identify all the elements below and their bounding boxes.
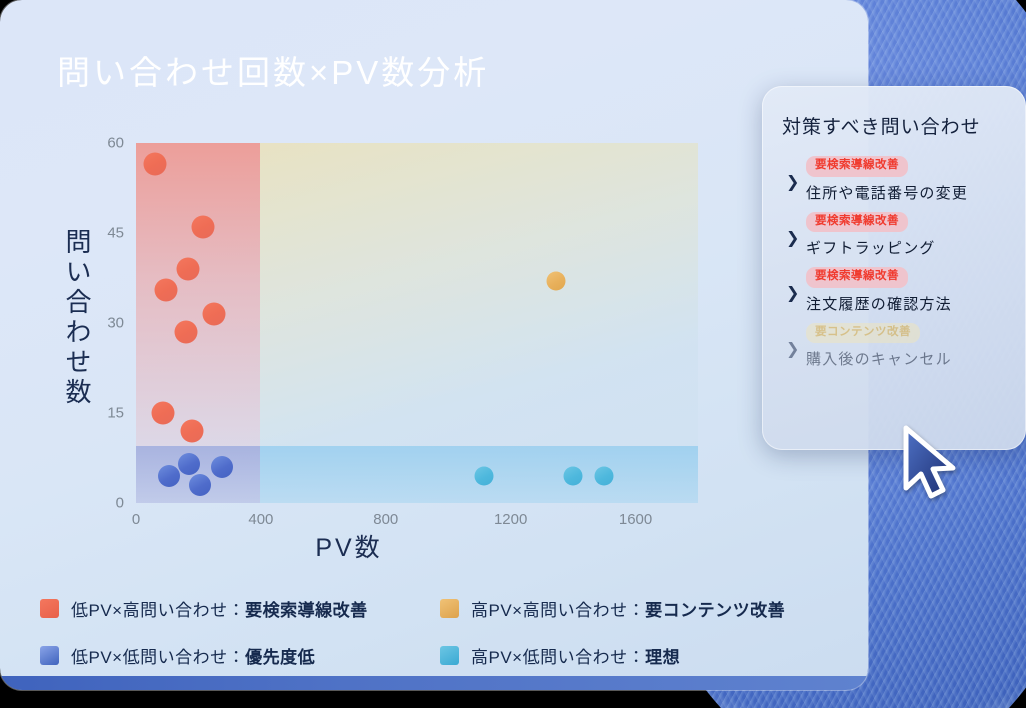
data-point[interactable] bbox=[203, 303, 226, 326]
panel-item-label: 住所や電話番号の変更 bbox=[806, 182, 1008, 203]
legend-swatch bbox=[440, 599, 459, 618]
scatter-chart: 015304560 040080012001600 問い合わせ数 PV数 bbox=[0, 0, 868, 690]
x-axis-tick-label: 1200 bbox=[494, 511, 527, 528]
status-badge: 要コンテンツ改善 bbox=[806, 323, 920, 344]
data-point[interactable] bbox=[192, 216, 215, 239]
data-point[interactable] bbox=[154, 279, 177, 302]
legend-item[interactable]: 低PV×低問い合わせ：優先度低 bbox=[40, 643, 440, 668]
legend-swatch bbox=[40, 599, 59, 618]
chevron-right-icon: ❯ bbox=[786, 231, 799, 247]
legend-label: 高PV×高問い合わせ：要コンテンツ改善 bbox=[471, 596, 785, 621]
legend-item[interactable]: 高PV×高問い合わせ：要コンテンツ改善 bbox=[440, 596, 840, 621]
data-point[interactable] bbox=[178, 453, 200, 475]
panel-list-item[interactable]: ❯要検索導線改善ギフトラッピング bbox=[782, 209, 1008, 261]
status-badge: 要検索導線改善 bbox=[806, 267, 908, 288]
x-axis-tick-label: 0 bbox=[132, 511, 140, 528]
data-point[interactable] bbox=[176, 258, 199, 281]
data-point[interactable] bbox=[143, 153, 166, 176]
y-axis-tick-label: 0 bbox=[116, 495, 124, 512]
data-point[interactable] bbox=[546, 272, 565, 291]
y-axis-tick-label: 60 bbox=[107, 135, 124, 152]
data-point[interactable] bbox=[595, 467, 614, 486]
panel-list-item[interactable]: ❯要検索導線改善注文履歴の確認方法 bbox=[782, 264, 1008, 316]
chevron-right-icon: ❯ bbox=[786, 175, 799, 191]
x-axis-tick-label: 400 bbox=[248, 511, 273, 528]
panel-item-label: 購入後のキャンセル bbox=[806, 348, 1008, 369]
card-bottom-edge bbox=[0, 676, 868, 690]
panel-item-list: ❯要検索導線改善住所や電話番号の変更❯要検索導線改善ギフトラッピング❯要検索導線… bbox=[782, 153, 1008, 371]
x-axis-title: PV数 bbox=[0, 528, 868, 564]
panel-item-label: 注文履歴の確認方法 bbox=[806, 293, 1008, 314]
y-axis-tick-label: 45 bbox=[107, 225, 124, 242]
legend-label: 高PV×低問い合わせ：理想 bbox=[471, 643, 680, 668]
panel-list-item[interactable]: ❯要コンテンツ改善購入後のキャンセル bbox=[782, 320, 1008, 372]
plot-area bbox=[136, 143, 698, 503]
legend-item[interactable]: 高PV×低問い合わせ：理想 bbox=[440, 643, 840, 668]
legend-label: 低PV×低問い合わせ：優先度低 bbox=[71, 643, 315, 668]
legend-swatch bbox=[40, 646, 59, 665]
status-badge: 要検索導線改善 bbox=[806, 212, 908, 233]
chevron-right-icon: ❯ bbox=[786, 342, 799, 358]
legend-swatch bbox=[440, 646, 459, 665]
y-axis-tick-label: 15 bbox=[107, 405, 124, 422]
screenshot-root: 問い合わせ回数×PV数分析 015304560 040080012001600 … bbox=[0, 0, 1026, 708]
data-point[interactable] bbox=[189, 474, 211, 496]
panel-title: 対策すべき問い合わせ bbox=[782, 112, 1008, 139]
data-point[interactable] bbox=[181, 420, 204, 443]
chart-legend: 低PV×高問い合わせ：要検索導線改善高PV×高問い合わせ：要コンテンツ改善低PV… bbox=[40, 596, 840, 668]
x-axis-tick-label: 1600 bbox=[619, 511, 652, 528]
data-point[interactable] bbox=[174, 321, 197, 344]
data-point[interactable] bbox=[211, 456, 233, 478]
data-point[interactable] bbox=[564, 467, 583, 486]
analysis-card: 問い合わせ回数×PV数分析 015304560 040080012001600 … bbox=[0, 0, 868, 690]
data-point[interactable] bbox=[151, 402, 174, 425]
priority-inquiries-panel: 対策すべき問い合わせ ❯要検索導線改善住所や電話番号の変更❯要検索導線改善ギフト… bbox=[762, 86, 1026, 450]
x-axis-tick-label: 800 bbox=[373, 511, 398, 528]
y-axis-title: 問い合わせ数 bbox=[52, 228, 92, 408]
status-badge: 要検索導線改善 bbox=[806, 156, 908, 177]
mouse-cursor-icon bbox=[900, 424, 962, 502]
data-point[interactable] bbox=[158, 465, 180, 487]
chevron-right-icon: ❯ bbox=[786, 286, 799, 302]
panel-item-label: ギフトラッピング bbox=[806, 237, 1008, 258]
quadrant-high-pv-high-inquiry bbox=[260, 143, 698, 446]
panel-list-item[interactable]: ❯要検索導線改善住所や電話番号の変更 bbox=[782, 153, 1008, 205]
legend-label: 低PV×高問い合わせ：要検索導線改善 bbox=[71, 596, 368, 621]
y-axis-tick-label: 30 bbox=[107, 315, 124, 332]
data-point[interactable] bbox=[475, 467, 494, 486]
legend-item[interactable]: 低PV×高問い合わせ：要検索導線改善 bbox=[40, 596, 440, 621]
